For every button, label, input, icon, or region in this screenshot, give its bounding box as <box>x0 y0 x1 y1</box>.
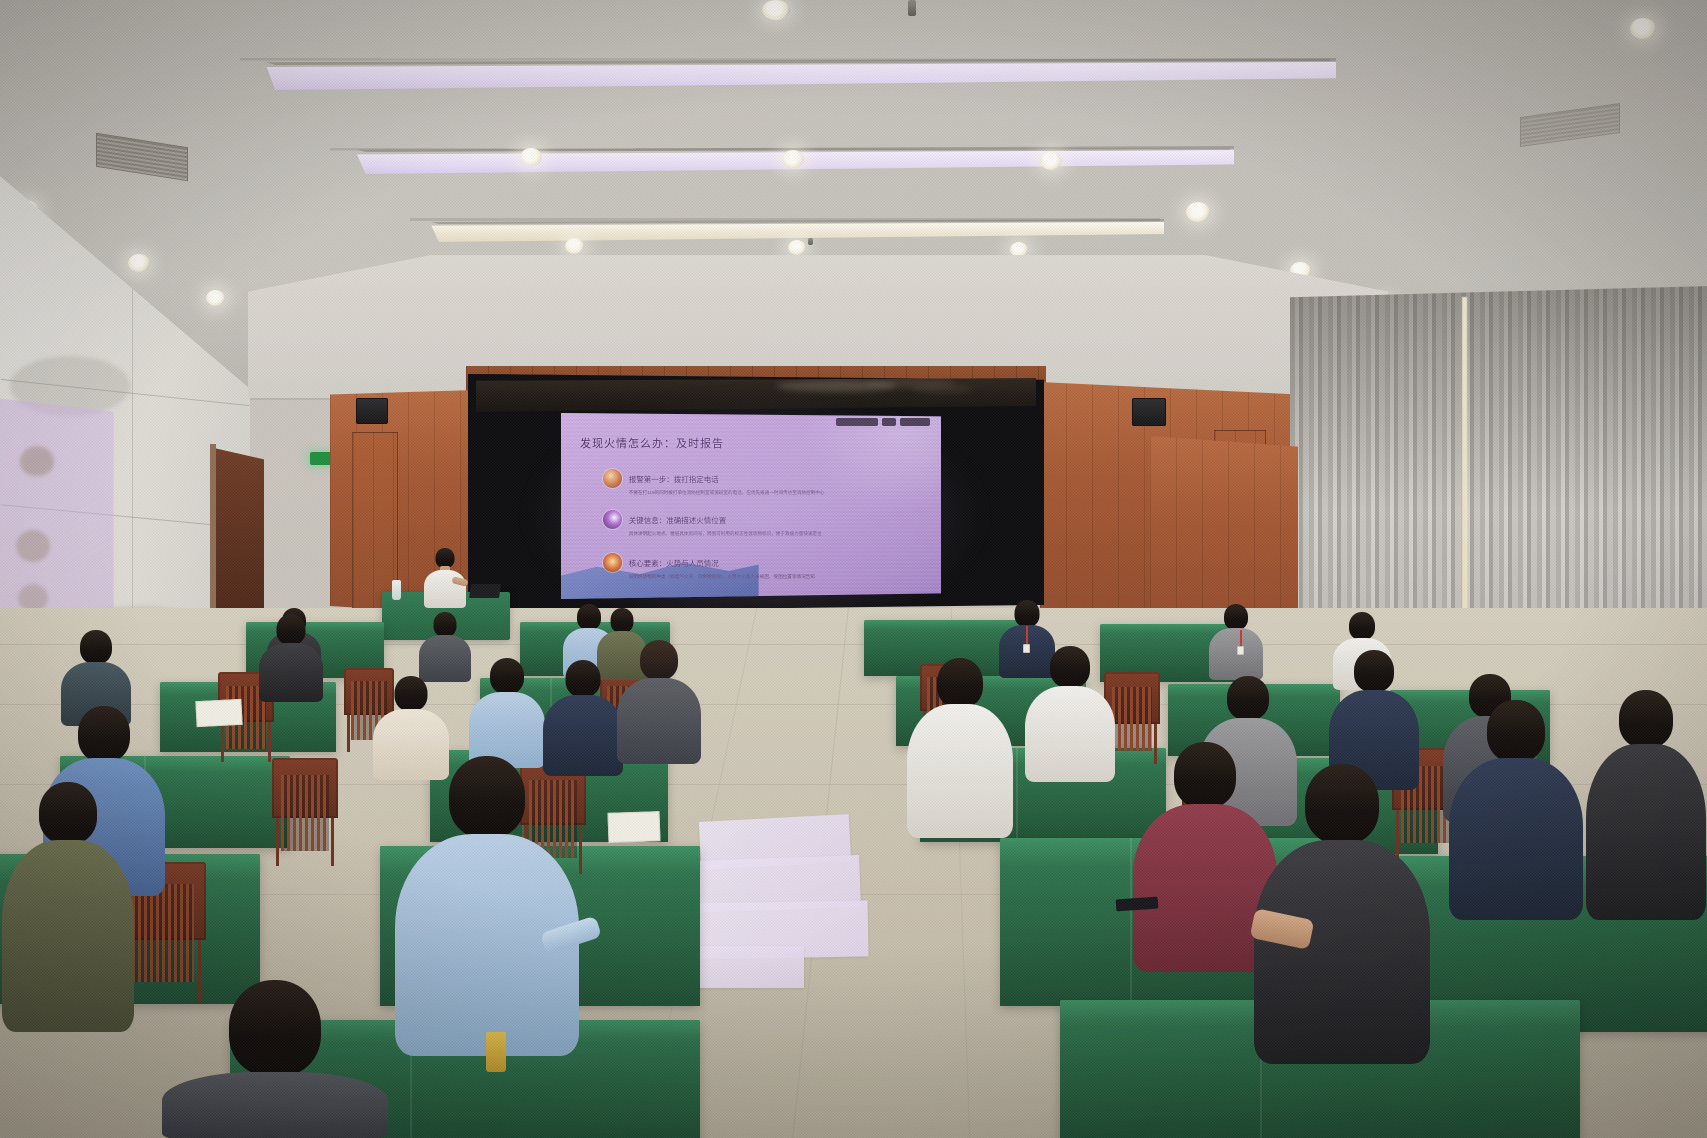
audience-member <box>1252 764 1432 1064</box>
slide-window-topbar <box>836 418 930 426</box>
audience-member <box>160 980 390 1138</box>
slide-bullet-2: 关键信息：准确描述火情位置 具体讲明起火地点、楼层具体房间号，周围可利用的标志性… <box>603 510 930 537</box>
audience-member <box>904 658 1016 838</box>
badge <box>1237 646 1244 655</box>
speaker-right-icon <box>1132 398 1166 426</box>
presentation-slide: 发现火情怎么办：及时报告 报警第一步：拨打指定电话 不要在打119的同时拨打单位… <box>561 413 941 599</box>
ceiling-downlight <box>1010 242 1028 257</box>
slide-bullet-heading: 核心要素：火势与人员情况 <box>629 559 719 568</box>
speaker-left-icon <box>356 398 388 424</box>
slide-bullet-1: 报警第一步：拨打指定电话 不要在打119的同时拨打单位消防控制室或值班室的电话，… <box>603 469 930 496</box>
laptop[interactable] <box>469 584 501 598</box>
audience-member <box>0 782 136 1032</box>
lanyard <box>1240 630 1242 646</box>
audience-member <box>1584 690 1707 920</box>
slide-topbar-chip <box>836 418 878 426</box>
conference-room-photo: 发现火情怎么办：及时报告 报警第一步：拨打指定电话 不要在打119的同时拨打单位… <box>0 0 1707 1138</box>
slide-bullet-heading: 关键信息：准确描述火情位置 <box>629 516 727 525</box>
emergency-exit-sign <box>310 452 332 465</box>
ceiling-downlight <box>520 148 542 166</box>
sprinkler-head-icon <box>908 0 916 16</box>
slide-bullet-subtext: 不要在打119的同时拨打单位消防控制室或值班室的电话，应优先拨通一时间传达至消防… <box>629 490 825 496</box>
audience-member <box>256 614 326 702</box>
audience-member <box>392 756 582 1056</box>
slide-bullet-3: 核心要素：火势与人员情况 说明燃烧物的种类（如电气火灾、可燃物燃烧）、火势大小及… <box>603 553 930 580</box>
notepad[interactable] <box>195 699 242 727</box>
ceiling-downlight <box>1186 202 1210 222</box>
slide-bullet-subtext: 具体讲明起火地点、楼层具体房间号，周围可利用的标志性建筑物标识，便于救援力量快速… <box>629 531 822 537</box>
audience-member <box>1446 700 1586 920</box>
notepad[interactable] <box>607 811 660 843</box>
slide-topbar-chip <box>900 418 930 426</box>
fire-location-icon <box>603 510 622 529</box>
water-bottle[interactable] <box>486 1032 506 1072</box>
slide-topbar-chip <box>882 418 896 426</box>
wall-projection-spill <box>0 398 114 628</box>
ceiling-downlight <box>1040 152 1062 170</box>
sprinkler-head-icon <box>808 238 813 245</box>
audience-member <box>1022 646 1118 782</box>
slide-title: 发现火情怎么办：及时报告 <box>580 435 724 451</box>
slide-bullet-heading: 报警第一步：拨打指定电话 <box>629 475 719 484</box>
ceiling-downlight <box>788 240 806 255</box>
presenter <box>418 548 472 608</box>
ceiling-downlight <box>565 238 584 254</box>
water-bottle[interactable] <box>392 580 401 600</box>
ceiling-downlight <box>1630 18 1656 39</box>
audience-member <box>614 640 704 764</box>
phone-report-icon <box>603 469 622 488</box>
audience-member <box>1206 604 1266 680</box>
slide-bullet-subtext: 说明燃烧物的种类（如电气火灾、可燃物燃烧）、火势大小及人员被困、受困位置等情况告… <box>629 574 815 580</box>
lanyard <box>1026 626 1028 644</box>
audience-member <box>466 658 548 768</box>
ceiling-downlight <box>128 254 150 272</box>
ceiling-downlight <box>782 150 804 168</box>
wooden-chair[interactable] <box>272 758 338 866</box>
presenter-torso <box>424 570 466 608</box>
flame-people-icon <box>603 553 622 572</box>
ceiling-downlight <box>762 0 790 20</box>
ceiling-downlight <box>206 290 225 306</box>
presenter-head <box>436 548 455 568</box>
